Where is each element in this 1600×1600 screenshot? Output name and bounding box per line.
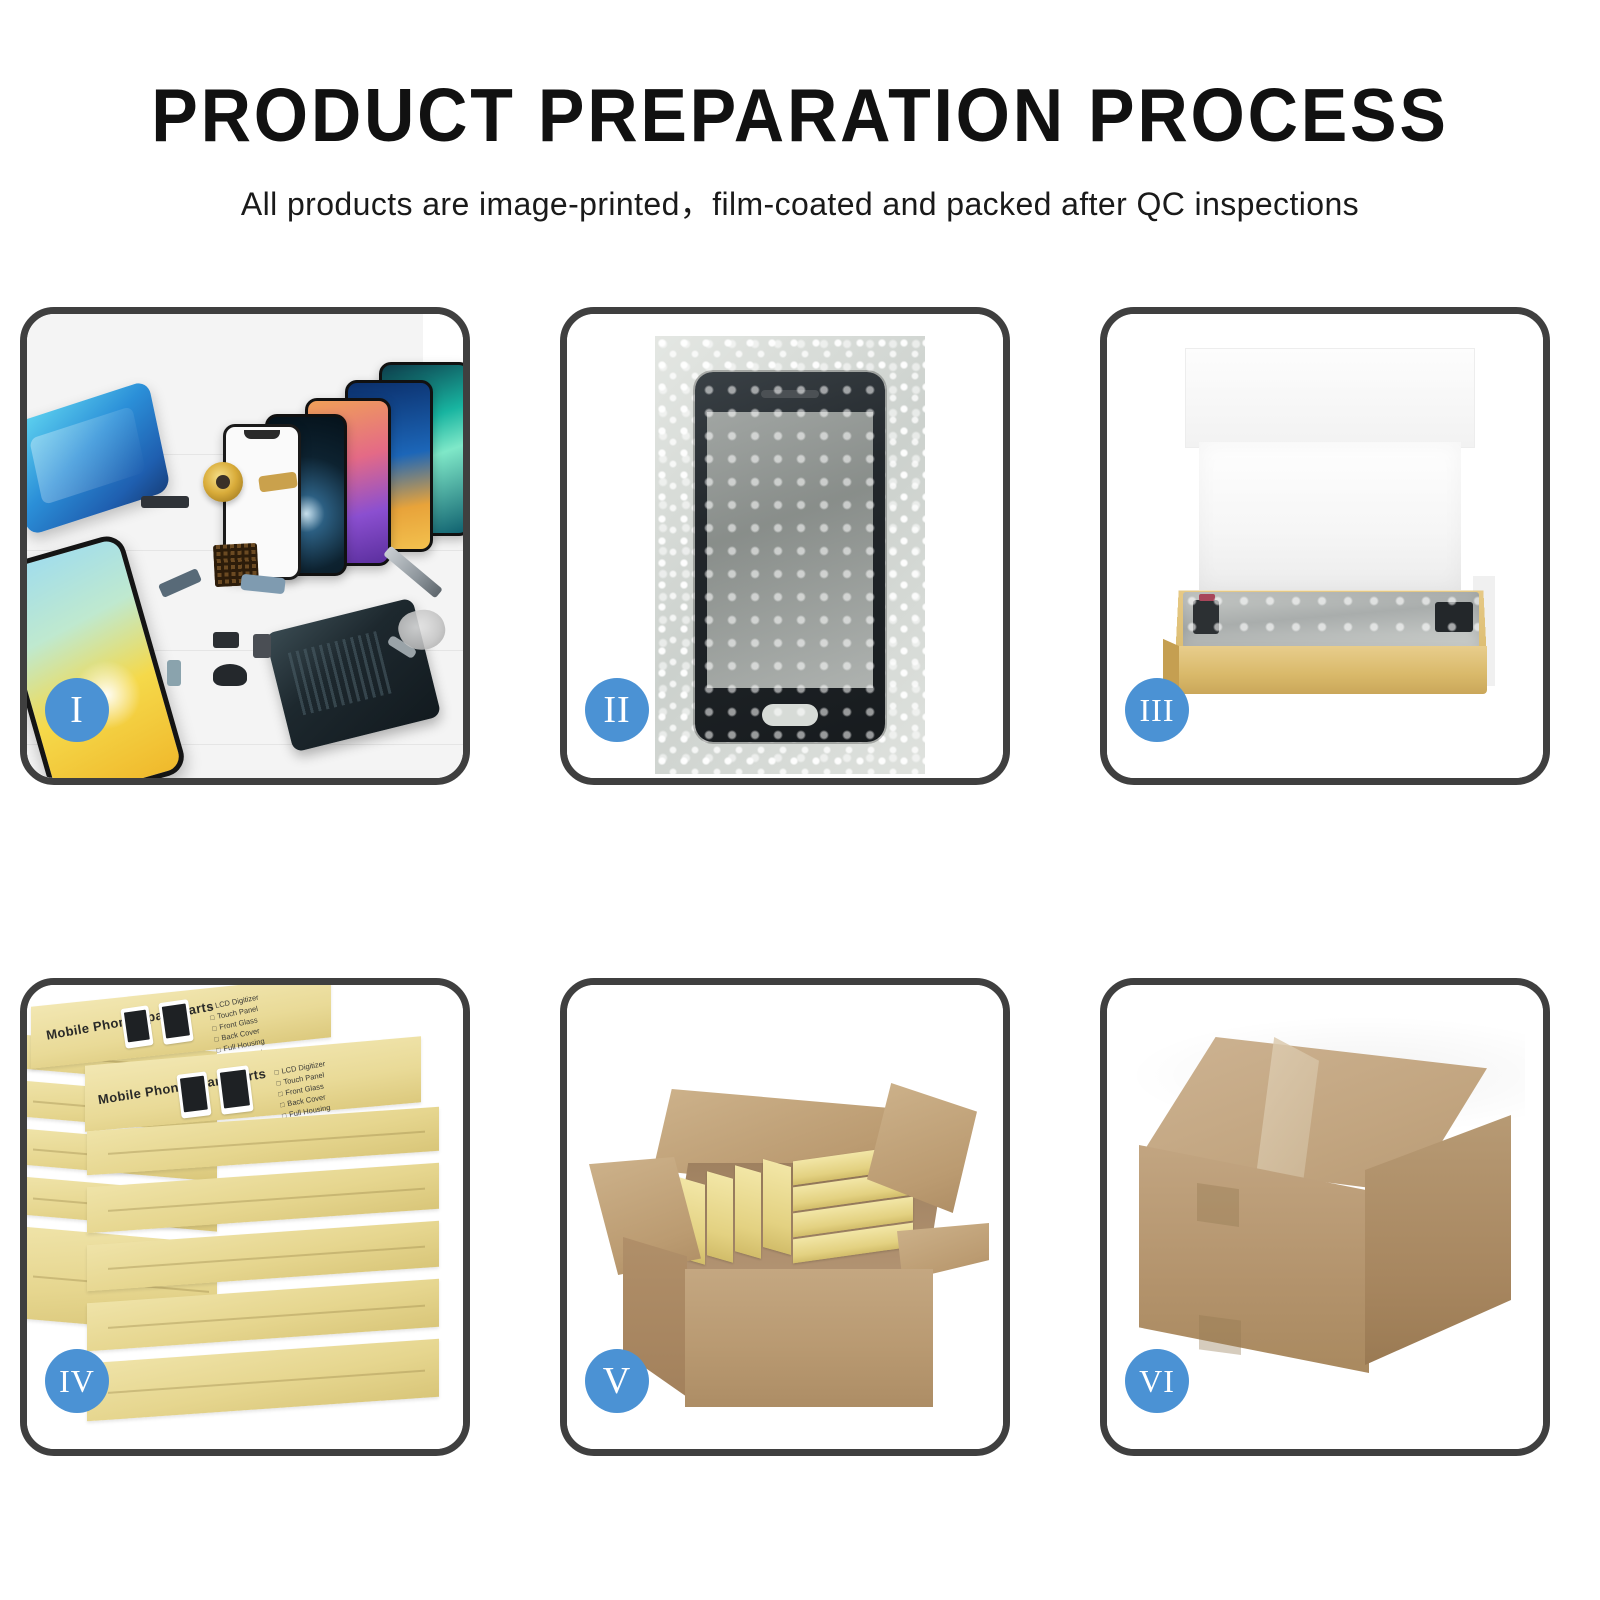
carton-front-panel: [685, 1269, 933, 1407]
step-panel-iii: III: [1100, 307, 1550, 785]
step-panel-iv: Mobile Phone Spare Parts LCD Digitizer T…: [20, 978, 470, 1456]
carton-tab-lower: [1199, 1315, 1241, 1355]
backlight-assembly-icon: [27, 380, 171, 537]
gold-box-item: [735, 1165, 761, 1258]
gold-box-item: [707, 1171, 733, 1262]
battery-part-icon: [253, 634, 271, 658]
carton-tab-upper: [1197, 1183, 1239, 1227]
step-badge-i: I: [45, 678, 109, 742]
gold-box-item: [763, 1159, 791, 1255]
step-badge-iii: III: [1125, 678, 1189, 742]
page-title: PRODUCT PREPARATION PROCESS: [56, 0, 1544, 153]
wireless-coil-icon: [203, 462, 243, 502]
ribbon-cable-icon: [240, 574, 285, 595]
step-badge-v: V: [585, 1349, 649, 1413]
step-badge-vi: VI: [1125, 1349, 1189, 1413]
page-subtitle: All products are image-printed，film-coat…: [0, 153, 1600, 225]
camera-module-icon: [213, 664, 247, 686]
step-panel-ii: II: [560, 307, 1010, 785]
step-badge-iv: IV: [45, 1349, 109, 1413]
step-badge-ii: II: [585, 678, 649, 742]
step-panel-v: V: [560, 978, 1010, 1456]
page-header: PRODUCT PREPARATION PROCESS All products…: [0, 0, 1600, 225]
box-front-panel: [1177, 646, 1487, 694]
phone-broken-yellow-icon: [27, 532, 189, 778]
bubble-wrap-sheet: [655, 336, 925, 774]
box-stack-item: [87, 1339, 439, 1422]
sim-tray-icon: [167, 660, 181, 686]
foam-insert-icon: [1199, 442, 1461, 590]
connector-cable-icon: [158, 568, 202, 598]
speaker-part-icon: [141, 496, 189, 508]
step-panel-i: I: [20, 307, 470, 785]
box-stack-item: [87, 1221, 439, 1292]
box-phone-thumb: [120, 1005, 153, 1049]
step-panel-vi: VI: [1100, 978, 1550, 1456]
wrapped-product-icon: [1183, 592, 1479, 648]
screwdriver-icon: [383, 546, 443, 599]
box-lid-icon: [1185, 348, 1475, 448]
box-phone-thumb: [216, 1065, 253, 1115]
small-chip-icon: [213, 632, 239, 648]
screen-assembly-icon: [695, 372, 885, 742]
box-phone-thumb: [158, 999, 194, 1045]
box-phone-thumb: [176, 1071, 211, 1118]
